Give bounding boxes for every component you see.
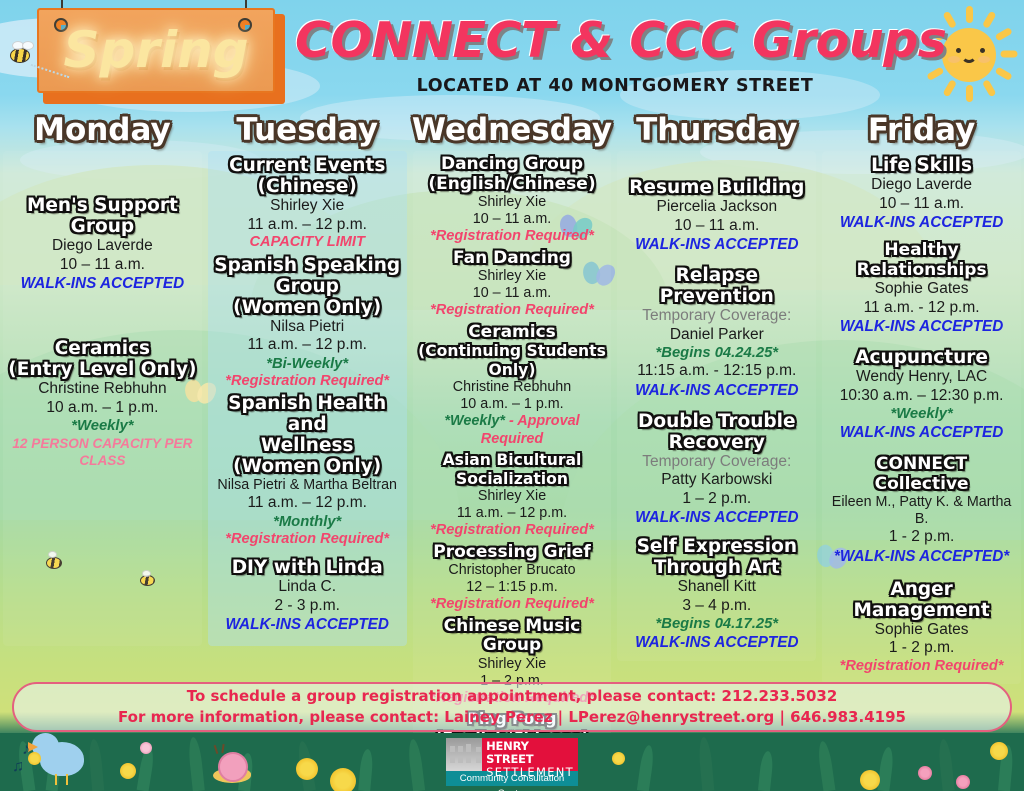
page-subtitle: LOCATED AT 40 MONTGOMERY STREET	[295, 76, 935, 96]
event-card[interactable]: Ceramics (Entry Level Only) Christine Re…	[6, 338, 199, 469]
event-walkins: WALK-INS ACCEPTED	[211, 615, 404, 634]
day-column-thursday: Thursday Resume Building Piercelia Jacks…	[614, 112, 819, 682]
event-title: DIY with Linda	[211, 557, 404, 578]
event-title-line2: (English/Chinese)	[416, 175, 609, 195]
event-time: 10 a.m. – 1 p.m.	[6, 399, 199, 418]
event-registration: *Registration Required*	[211, 531, 404, 549]
event-facilitator: Diego Laverde	[6, 237, 199, 256]
event-facilitator: Diego Laverde	[825, 176, 1018, 195]
event-card[interactable]: Anger Management Sophie Gates 1 - 2 p.m.…	[825, 579, 1018, 676]
event-title-line2: (Continuing Students Only)	[416, 342, 609, 379]
event-frequency: *Monthly*	[211, 513, 404, 531]
event-facilitator: Nilsa Pietri & Martha Beltran	[211, 477, 404, 494]
event-card[interactable]: CONNECT Collective Eileen M., Patty K. &…	[825, 455, 1018, 566]
flower-icon	[28, 752, 41, 765]
event-time: 10 – 11 a.m.	[416, 211, 609, 228]
event-time: 10:30 a.m. – 12:30 p.m.	[825, 387, 1018, 406]
event-facilitator: Shirley Xie	[416, 488, 609, 505]
event-title: Fan Dancing	[416, 249, 609, 269]
event-registration: *Registration Required*	[416, 228, 609, 246]
event-title: Spanish Speaking	[211, 255, 404, 276]
contact-banner: To schedule a group registration appoint…	[12, 682, 1012, 732]
day-header-monday: Monday	[0, 112, 205, 148]
event-temporary-coverage: Temporary Coverage:	[620, 453, 813, 472]
event-registration: *Registration Required*	[416, 302, 609, 320]
event-card[interactable]: Double Trouble Recovery Temporary Covera…	[620, 411, 813, 528]
event-card[interactable]: Healthy Relationships Sophie Gates 11 a.…	[825, 241, 1018, 336]
event-frequency: *Weekly*	[825, 405, 1018, 423]
event-facilitator: Linda C.	[211, 578, 404, 597]
event-title: Life Skills	[825, 155, 1018, 176]
logo-tagline: Community Consultation Center	[446, 771, 578, 786]
event-facilitator: Christopher Brucato	[416, 562, 609, 579]
day-header-wednesday: Wednesday	[410, 112, 615, 148]
henry-street-logo: HENRY STREET SETTLEMENT Community Consul…	[446, 738, 578, 786]
event-title: Dancing Group	[416, 155, 609, 175]
event-title-line2: (Entry Level Only)	[6, 359, 199, 380]
event-walkins: WALK-INS ACCEPTED	[825, 317, 1018, 336]
flower-icon	[120, 763, 136, 779]
event-title: Ceramics	[6, 338, 199, 359]
event-facilitator: Shirley Xie	[416, 656, 609, 673]
event-card[interactable]: Acupuncture Wendy Henry, LAC 10:30 a.m. …	[825, 347, 1018, 442]
event-title-line2: Through Art	[620, 557, 813, 578]
event-walkins: *WALK-INS ACCEPTED*	[825, 547, 1018, 566]
event-card[interactable]: Men's Support Group Diego Laverde 10 – 1…	[6, 195, 199, 293]
event-time: 10 – 11 a.m.	[416, 285, 609, 302]
flower-icon	[296, 758, 318, 780]
event-card[interactable]: Fan Dancing Shirley Xie 10 – 11 a.m. *Re…	[416, 249, 609, 320]
event-title-line3: (Women Only)	[211, 456, 404, 477]
event-card[interactable]: Asian Bicultural Socialization Shirley X…	[416, 451, 609, 540]
event-facilitator: Shirley Xie	[416, 268, 609, 285]
event-title: Current Events	[211, 155, 404, 176]
event-title: Asian Bicultural Socialization	[416, 451, 609, 488]
event-title-line2: (Chinese)	[211, 176, 404, 197]
event-facilitator: Nilsa Pietri	[211, 318, 404, 337]
spring-sign: Spring	[37, 8, 285, 103]
event-title: Relapse Prevention	[620, 265, 813, 307]
contact-line-1: To schedule a group registration appoint…	[187, 686, 838, 707]
spring-badge-label: Spring	[37, 16, 275, 84]
day-panel-friday: Life Skills Diego Laverde 10 – 11 a.m. W…	[822, 151, 1021, 684]
page-title: CONNECT & CCC Groups	[295, 12, 935, 70]
event-card[interactable]: Spanish Health and Wellness (Women Only)…	[211, 393, 404, 548]
event-time: 10 – 11 a.m.	[825, 195, 1018, 214]
event-time: 10 a.m. – 1 p.m.	[416, 396, 609, 413]
flower-icon	[990, 742, 1008, 760]
event-card[interactable]: Spanish Speaking Group (Women Only) Nils…	[211, 255, 404, 391]
poster-canvas: Spring CONNECT & CCC Groups LOCATED	[0, 0, 1024, 791]
event-time: 12 – 1:15 p.m.	[416, 579, 609, 596]
event-time: 2 - 3 p.m.	[211, 597, 404, 616]
event-time: 10 – 11 a.m.	[620, 217, 813, 236]
event-frequency: *Weekly*	[6, 417, 199, 435]
event-card[interactable]: Dancing Group (English/Chinese) Shirley …	[416, 155, 609, 246]
event-title: Healthy Relationships	[825, 241, 1018, 280]
event-card[interactable]: Self Expression Through Art Shanell Kitt…	[620, 536, 813, 652]
event-time: 1 - 2 p.m.	[825, 528, 1018, 547]
event-facilitator: Wendy Henry, LAC	[825, 368, 1018, 387]
event-facilitator: Piercelia Jackson	[620, 198, 813, 217]
event-time: 10 – 11 a.m.	[6, 256, 199, 275]
event-title: Double Trouble	[620, 411, 813, 432]
event-title: Anger Management	[825, 579, 1018, 621]
event-begins: *Begins 04.24.25*	[620, 344, 813, 362]
event-title: CONNECT Collective	[825, 455, 1018, 494]
day-panel-monday: Men's Support Group Diego Laverde 10 – 1…	[3, 151, 202, 646]
event-title-line2: Wellness	[211, 435, 404, 456]
event-time: 11 a.m. – 12 p.m.	[416, 505, 609, 522]
day-column-tuesday: Tuesday Current Events (Chinese) Shirley…	[205, 112, 410, 682]
event-card[interactable]: Relapse Prevention Temporary Coverage: D…	[620, 265, 813, 400]
event-title: Resume Building	[620, 177, 813, 198]
event-facilitator: Daniel Parker	[620, 326, 813, 345]
event-title: Men's Support Group	[6, 195, 199, 237]
event-time: 11 a.m. – 12 p.m.	[211, 216, 404, 235]
event-frequency: *Weekly*	[444, 413, 505, 429]
event-walkins: WALK-INS ACCEPTED	[620, 235, 813, 254]
day-column-friday: Friday Life Skills Diego Laverde 10 – 11…	[819, 112, 1024, 682]
event-facilitator: Shanell Kitt	[620, 578, 813, 597]
logo-line-1: HENRY STREET	[486, 740, 574, 766]
day-column-wednesday: Wednesday Dancing Group (English/Chinese…	[410, 112, 615, 682]
event-title: Ceramics	[416, 323, 609, 343]
day-header-friday: Friday	[819, 112, 1024, 148]
event-temporary-coverage: Temporary Coverage:	[620, 307, 813, 326]
event-registration: *Registration Required*	[416, 596, 609, 614]
event-walkins: WALK-INS ACCEPTED	[620, 508, 813, 527]
event-time: 11 a.m. – 12 p.m.	[211, 336, 404, 355]
event-time: 11:15 a.m. - 12:15 p.m.	[620, 362, 813, 381]
flower-icon	[956, 775, 970, 789]
event-facilitator: Christine Rebhuhn	[416, 379, 609, 396]
event-title: Self Expression	[620, 536, 813, 557]
event-registration: *Registration Required*	[416, 522, 609, 540]
event-card[interactable]: Processing Grief Christopher Brucato 12 …	[416, 543, 609, 614]
event-card[interactable]: DIY with Linda Linda C. 2 - 3 p.m. WALK-…	[211, 557, 404, 634]
event-walkins: WALK-INS ACCEPTED	[825, 423, 1018, 442]
event-facilitator: Sophie Gates	[825, 280, 1018, 299]
music-note-icon: ♫	[12, 758, 24, 776]
event-capacity-limit: CAPACITY LIMIT	[211, 234, 404, 252]
event-title: Acupuncture	[825, 347, 1018, 368]
flower-icon	[330, 768, 356, 791]
event-title-line2: Recovery	[620, 432, 813, 453]
event-time: 1 – 2 p.m.	[620, 490, 813, 509]
flower-icon	[612, 752, 625, 765]
event-walkins: WALK-INS ACCEPTED	[620, 381, 813, 400]
event-walkins: WALK-INS ACCEPTED	[6, 274, 199, 293]
event-frequency: *Bi-Weekly*	[211, 355, 404, 373]
schedule-grid: Monday Men's Support Group Diego Laverde…	[0, 112, 1024, 682]
event-registration: *Registration Required*	[825, 658, 1018, 676]
day-panel-thursday: Resume Building Piercelia Jackson 10 – 1…	[617, 151, 816, 661]
event-title: Chinese Music Group	[416, 617, 609, 656]
event-title-line2: Group	[211, 276, 404, 297]
event-facilitator: Sophie Gates	[825, 621, 1018, 640]
event-time: 11 a.m. - 12 p.m.	[825, 299, 1018, 318]
flower-icon	[918, 766, 932, 780]
event-facilitator: Shirley Xie	[416, 194, 609, 211]
event-card[interactable]: Current Events (Chinese) Shirley Xie 11 …	[211, 155, 404, 252]
event-registration: *Registration Required*	[211, 373, 404, 391]
event-time: 3 – 4 p.m.	[620, 597, 813, 616]
event-facilitator: Christine Rebhuhn	[6, 380, 199, 399]
event-card[interactable]: Life Skills Diego Laverde 10 – 11 a.m. W…	[825, 155, 1018, 232]
day-panel-tuesday: Current Events (Chinese) Shirley Xie 11 …	[208, 151, 407, 646]
contact-line-2: For more information, please contact: La…	[118, 707, 906, 728]
flower-icon	[860, 770, 880, 790]
event-facilitator: Eileen M., Patty K. & Martha B.	[825, 494, 1018, 528]
event-title: Spanish Health and	[211, 393, 404, 435]
event-frequency-approval: *Weekly* - Approval Required	[416, 413, 609, 448]
event-facilitator: Shirley Xie	[211, 197, 404, 216]
day-column-monday: Monday Men's Support Group Diego Laverde…	[0, 112, 205, 682]
event-capacity-note: 12 PERSON CAPACITY PER CLASS	[6, 435, 199, 469]
building-icon	[446, 738, 482, 771]
event-begins: *Begins 04.17.25*	[620, 615, 813, 633]
event-title: Processing Grief	[416, 543, 609, 563]
event-card[interactable]: Ceramics (Continuing Students Only) Chri…	[416, 323, 609, 449]
title-block: CONNECT & CCC Groups LOCATED AT 40 MONTG…	[295, 12, 935, 96]
event-walkins: WALK-INS ACCEPTED	[620, 633, 813, 652]
event-time: 1 - 2 p.m.	[825, 639, 1018, 658]
event-time: 11 a.m. – 12 p.m.	[211, 494, 404, 513]
event-title-line3: (Women Only)	[211, 297, 404, 318]
event-walkins: WALK-INS ACCEPTED	[825, 213, 1018, 232]
event-card[interactable]: Resume Building Piercelia Jackson 10 – 1…	[620, 177, 813, 254]
event-facilitator: Patty Karbowski	[620, 471, 813, 490]
day-header-thursday: Thursday	[614, 112, 819, 148]
flower-icon	[140, 742, 152, 754]
day-header-tuesday: Tuesday	[205, 112, 410, 148]
